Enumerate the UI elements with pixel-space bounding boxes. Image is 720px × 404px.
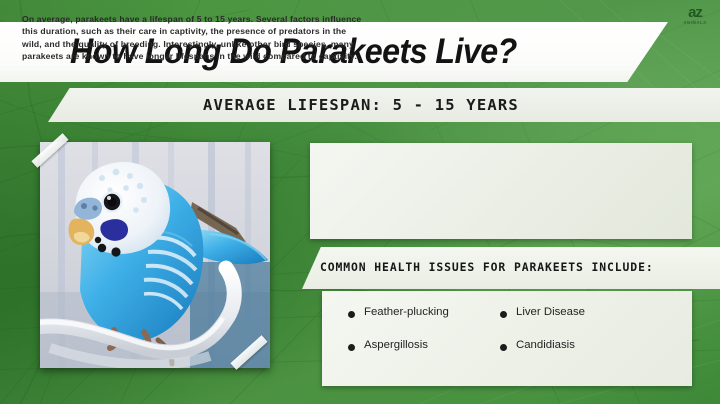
list-item-label: Liver Disease <box>516 306 585 319</box>
list-item-label: Aspergillosis <box>364 339 428 352</box>
bullet-icon <box>348 344 355 351</box>
list-item-label: Candidiasis <box>516 339 575 352</box>
parakeet-photo-image <box>40 142 270 368</box>
az-animals-logo[interactable]: az ANIMALS <box>678 3 712 27</box>
list-item: Aspergillosis <box>348 339 500 352</box>
list-item: Liver Disease <box>500 306 678 319</box>
intro-paragraph: On average, parakeets have a lifespan of… <box>22 13 364 63</box>
logo-subtext: ANIMALS <box>683 20 706 25</box>
logo-wordmark: az <box>688 5 702 20</box>
list-item: Feather-plucking <box>348 306 500 319</box>
infographic-canvas: az ANIMALS How Long Do Parakeets Live? A… <box>0 0 720 404</box>
list-item-label: Feather-plucking <box>364 306 449 319</box>
subtitle-banner: AVERAGE LIFESPAN: 5 - 15 YEARS <box>48 88 720 122</box>
list-item: Candidiasis <box>500 339 678 352</box>
parakeet-photo <box>40 142 270 368</box>
health-heading: COMMON HEALTH ISSUES FOR PARAKEETS INCLU… <box>320 260 654 274</box>
bullet-icon <box>500 344 507 351</box>
health-list: Feather-plucking Liver Disease Aspergill… <box>348 306 678 351</box>
bullet-icon <box>500 311 507 318</box>
bullet-icon <box>348 311 355 318</box>
intro-panel <box>310 143 692 239</box>
average-lifespan-label: AVERAGE LIFESPAN: 5 - 15 YEARS <box>203 96 519 114</box>
